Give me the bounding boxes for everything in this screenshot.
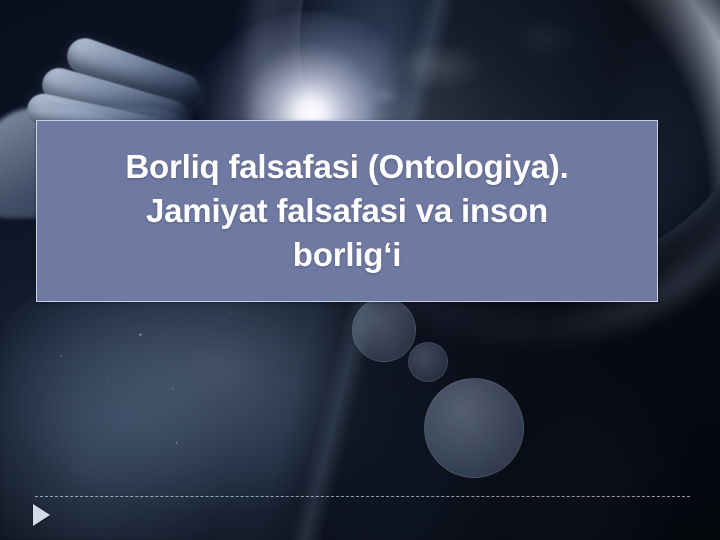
title-line-1: Borliq falsafasi (Ontologiya).	[51, 145, 643, 189]
title-line-3: borligʻi	[51, 233, 643, 277]
page-title: Borliq falsafasi (Ontologiya). Jamiyat f…	[37, 145, 657, 277]
bubble-large-lower	[424, 378, 524, 478]
bubble-small	[408, 342, 448, 382]
bubble-large-upper	[352, 298, 416, 362]
title-line-2: Jamiyat falsafasi va inson	[51, 189, 643, 233]
title-box: Borliq falsafasi (Ontologiya). Jamiyat f…	[36, 120, 658, 302]
presentation-slide: Borliq falsafasi (Ontologiya). Jamiyat f…	[0, 0, 720, 540]
play-triangle-icon	[33, 504, 50, 526]
footer-dashed-rule	[35, 496, 690, 497]
